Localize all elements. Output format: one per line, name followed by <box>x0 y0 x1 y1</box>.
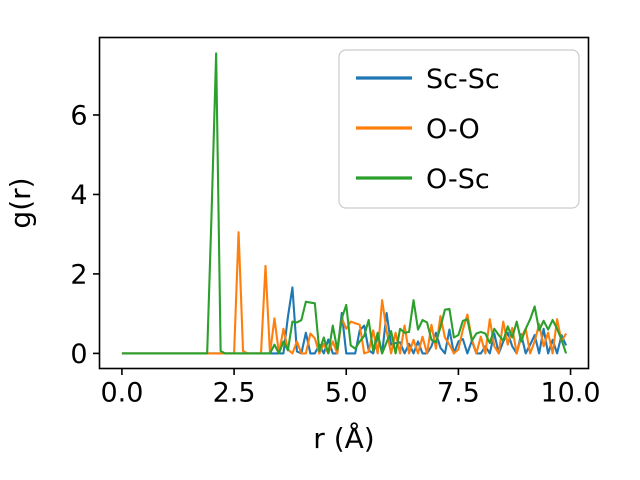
x-tick-label: 7.5 <box>437 378 480 409</box>
y-tick-label: 2 <box>70 259 87 290</box>
x-tick-label: 2.5 <box>213 378 256 409</box>
x-tick-label: 10.0 <box>540 378 600 409</box>
legend[interactable]: Sc-ScO-OO-Sc <box>339 50 579 208</box>
y-tick-label: 4 <box>70 180 87 211</box>
y-tick-label: 0 <box>70 339 87 370</box>
y-tick-label: 6 <box>70 100 87 131</box>
x-tick-label: 5.0 <box>325 378 368 409</box>
figure-canvas: 0.02.55.07.510.0 0246 r (Å) g(r) Sc-ScO-… <box>0 0 640 480</box>
legend-label-sc-sc: Sc-Sc <box>426 64 500 95</box>
rdf-plot: 0.02.55.07.510.0 0246 r (Å) g(r) Sc-ScO-… <box>0 0 640 480</box>
legend-label-o-o: O-O <box>426 114 480 145</box>
x-tick-label: 0.0 <box>100 378 143 409</box>
legend-label-o-sc: O-Sc <box>426 164 490 195</box>
x-axis-label: r (Å) <box>313 421 374 455</box>
y-axis-label: g(r) <box>4 177 37 228</box>
